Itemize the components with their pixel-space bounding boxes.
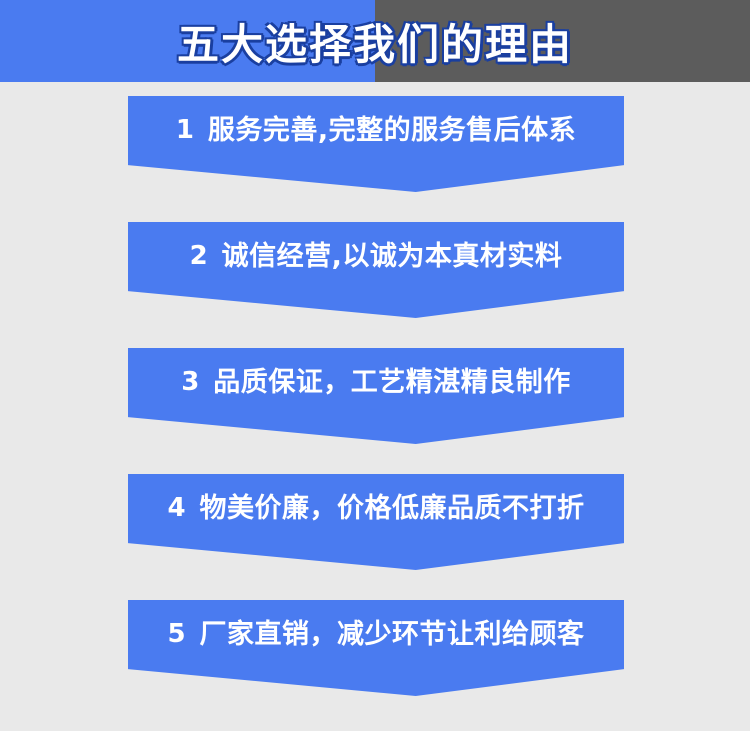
promo-page: 五大选择我们的理由 1 服务完善,完整的服务售后体系 2 诚信经营,以诚为本真材… <box>0 0 750 731</box>
reason-text-4: 物美价廉，价格低廉品质不打折 <box>200 495 585 522</box>
reason-number-4: 4 <box>167 495 185 521</box>
reason-banner-2: 2 诚信经营,以诚为本真材实料 <box>128 222 624 318</box>
reason-number-1: 1 <box>176 117 194 143</box>
reason-banner-5: 5 厂家直销，减少环节让利给顾客 <box>128 600 624 696</box>
reason-text-5: 厂家直销，减少环节让利给顾客 <box>200 621 585 648</box>
reason-text-1: 服务完善,完整的服务售后体系 <box>208 117 576 144</box>
reason-text-3: 品质保证，工艺精湛精良制作 <box>213 369 571 396</box>
reason-text-2: 诚信经营,以诚为本真材实料 <box>222 243 563 270</box>
reason-content-4: 4 物美价廉，价格低廉品质不打折 <box>167 474 584 539</box>
reason-banner-3: 3 品质保证，工艺精湛精良制作 <box>128 348 624 444</box>
reason-content-3: 3 品质保证，工艺精湛精良制作 <box>181 348 571 413</box>
reason-number-3: 3 <box>181 369 199 395</box>
reason-number-2: 2 <box>190 243 208 269</box>
reason-content-2: 2 诚信经营,以诚为本真材实料 <box>190 222 563 287</box>
reason-content-1: 1 服务完善,完整的服务售后体系 <box>176 96 576 161</box>
page-header: 五大选择我们的理由 <box>0 0 750 82</box>
reason-number-5: 5 <box>167 621 185 647</box>
reasons-list: 1 服务完善,完整的服务售后体系 2 诚信经营,以诚为本真材实料 3 品质保证，… <box>0 82 750 731</box>
reason-banner-1: 1 服务完善,完整的服务售后体系 <box>128 96 624 192</box>
reason-banner-4: 4 物美价廉，价格低廉品质不打折 <box>128 474 624 570</box>
reason-content-5: 5 厂家直销，减少环节让利给顾客 <box>167 600 584 665</box>
page-title: 五大选择我们的理由 <box>0 0 750 82</box>
